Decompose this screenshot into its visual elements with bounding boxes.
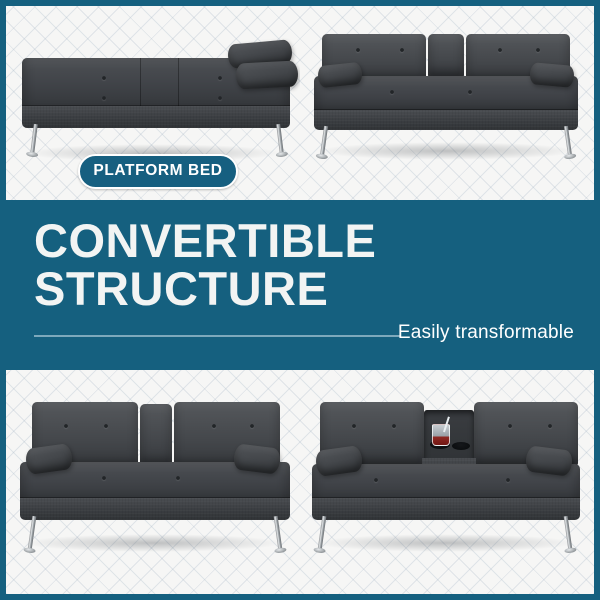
panel-cup-holders: CUP HOLDERS <box>300 370 594 594</box>
label-pill-platform-bed: PLATFORM BED <box>78 154 238 189</box>
pillow <box>529 62 575 88</box>
banner-title-line2: STRUCTURE <box>34 264 328 314</box>
photo-three-seater-futon <box>6 370 300 594</box>
photo-lounge <box>300 6 594 200</box>
drinking-glass <box>432 424 450 446</box>
panel-three-seater-futon: 3-SEATER FUTON <box>6 370 300 594</box>
banner-divider-rule <box>34 335 400 337</box>
pillow <box>525 445 574 476</box>
panel-lounge: LOUNGE <box>300 6 594 200</box>
pillow <box>235 60 298 89</box>
panel-platform-bed: PLATFORM BED <box>6 6 300 200</box>
photo-cup-holders <box>300 370 594 594</box>
pillow <box>233 443 282 474</box>
banner-subtitle: Easily transformable <box>398 322 574 344</box>
chrome-leg <box>276 124 284 154</box>
pillow <box>317 62 363 88</box>
banner: CONVERTIBLE STRUCTURE Easily transformab… <box>0 200 600 370</box>
banner-title-line1: CONVERTIBLE <box>34 216 376 266</box>
cup-holder <box>452 442 470 450</box>
product-infographic: PLATFORM BED LOUNGE <box>0 0 600 600</box>
